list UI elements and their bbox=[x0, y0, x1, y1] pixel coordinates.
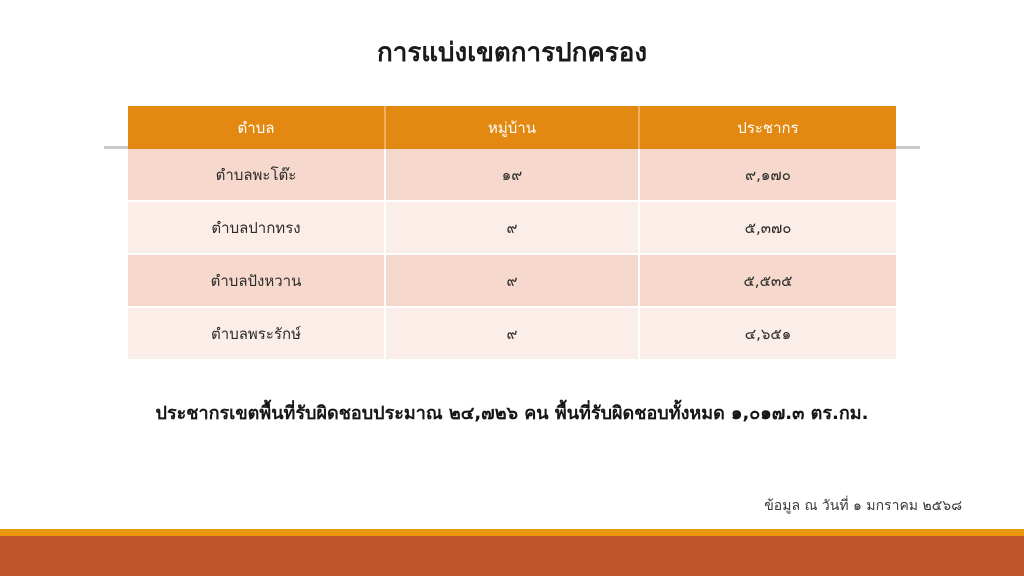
table-row: ตำบลปังหวาน ๙ ๕,๕๓๕ bbox=[128, 254, 896, 307]
cell-villages: ๙ bbox=[385, 201, 639, 254]
table-body: ตำบลพะโต๊ะ ๑๙ ๙,๑๗๐ ตำบลปากทรง ๙ ๕,๓๗๐ ต… bbox=[128, 149, 896, 359]
column-header-population: ประชากร bbox=[639, 106, 896, 149]
data-table: ตำบล หมู่บ้าน ประชากร ตำบลพะโต๊ะ ๑๙ ๙,๑๗… bbox=[128, 106, 896, 359]
cell-subdistrict: ตำบลพะโต๊ะ bbox=[128, 149, 385, 201]
data-as-of-note: ข้อมูล ณ วันที่ ๑ มกราคม ๒๕๖๘ bbox=[764, 497, 962, 515]
table-row: ตำบลปากทรง ๙ ๕,๓๗๐ bbox=[128, 201, 896, 254]
cell-villages: ๑๙ bbox=[385, 149, 639, 201]
cell-subdistrict: ตำบลปากทรง bbox=[128, 201, 385, 254]
administrative-divisions-table: ตำบล หมู่บ้าน ประชากร ตำบลพะโต๊ะ ๑๙ ๙,๑๗… bbox=[128, 106, 896, 359]
page-title: การแบ่งเขตการปกครอง bbox=[0, 38, 1024, 69]
summary-text: ประชากรเขตพื้นที่รับผิดชอบประมาณ ๒๔,๗๒๖ … bbox=[0, 402, 1024, 425]
cell-subdistrict: ตำบลปังหวาน bbox=[128, 254, 385, 307]
cell-population: ๕,๓๗๐ bbox=[639, 201, 896, 254]
table-row: ตำบลพระรักษ์ ๙ ๔,๖๕๑ bbox=[128, 307, 896, 359]
table-header: ตำบล หมู่บ้าน ประชากร bbox=[128, 106, 896, 149]
cell-population: ๕,๕๓๕ bbox=[639, 254, 896, 307]
footer-accent-stripe bbox=[0, 529, 1024, 536]
cell-villages: ๙ bbox=[385, 254, 639, 307]
cell-villages: ๙ bbox=[385, 307, 639, 359]
footer-band bbox=[0, 536, 1024, 576]
column-header-subdistrict: ตำบล bbox=[128, 106, 385, 149]
cell-subdistrict: ตำบลพระรักษ์ bbox=[128, 307, 385, 359]
cell-population: ๔,๖๕๑ bbox=[639, 307, 896, 359]
table-header-row: ตำบล หมู่บ้าน ประชากร bbox=[128, 106, 896, 149]
table-row: ตำบลพะโต๊ะ ๑๙ ๙,๑๗๐ bbox=[128, 149, 896, 201]
cell-population: ๙,๑๗๐ bbox=[639, 149, 896, 201]
column-header-villages: หมู่บ้าน bbox=[385, 106, 639, 149]
slide-canvas: การแบ่งเขตการปกครอง ตำบล หมู่บ้าน ประชาก… bbox=[0, 0, 1024, 576]
